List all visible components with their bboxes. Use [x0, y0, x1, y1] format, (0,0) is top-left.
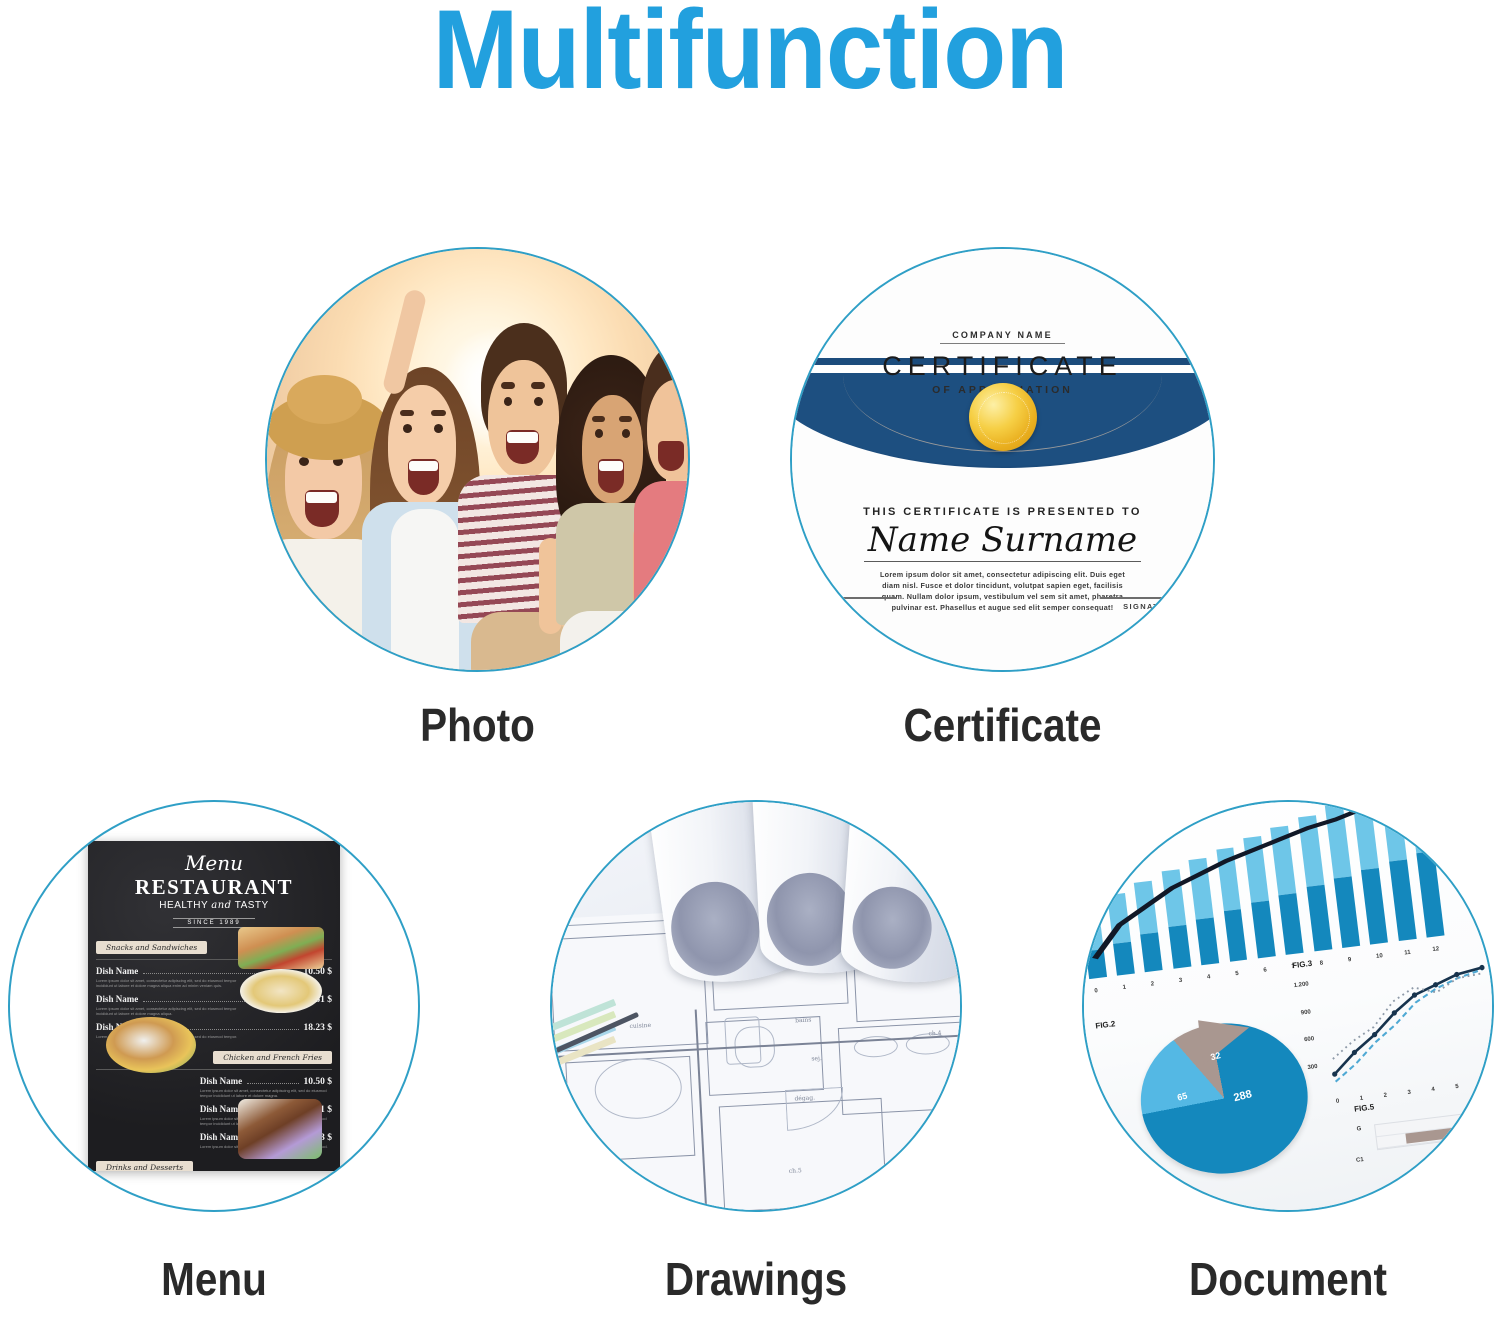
menu-script-title: Menu — [88, 851, 340, 875]
eye-left — [403, 424, 412, 433]
certificate-document: COMPANY NAME CERTIFICATE OF APPRECIATION… — [792, 249, 1213, 670]
drinks-dessert-photo — [238, 1099, 322, 1159]
cert-signature-block: SIGNATURE — [1052, 597, 1179, 611]
plan-label: dégag. — [794, 1095, 815, 1103]
bar — [1440, 1203, 1449, 1212]
x-tick: 2 — [1383, 1093, 1387, 1099]
x-tick: 4 — [1431, 1087, 1435, 1093]
tile-menu-circle: Menu RESTAURANT HEALTHY and TASTY SINCE … — [8, 800, 420, 1212]
eye-right — [434, 424, 443, 433]
dimension-line — [555, 1210, 962, 1212]
caption-drawings: Drawings — [575, 1256, 938, 1302]
caption-document: Document — [1107, 1256, 1470, 1302]
menu-header: Menu RESTAURANT HEALTHY and TASTY SINCE … — [88, 841, 340, 929]
x-tick: 1 — [1122, 984, 1126, 990]
teeth — [599, 461, 623, 471]
brow-left — [501, 382, 515, 389]
group-photo — [267, 249, 688, 670]
x-tick: 0 — [1335, 1099, 1339, 1105]
roll-opening — [850, 884, 934, 971]
eye-left — [595, 429, 603, 437]
date-line — [826, 597, 897, 599]
tile-drawings-circle: cuisine bains ch.4 sej. dégag. ch.5 — [550, 800, 962, 1212]
report-sheet: 0 1 2 3 4 5 6 7 8 9 10 11 12 20 40 60 — [1082, 800, 1494, 1212]
x-tick: 2 — [1150, 981, 1154, 987]
cert-recipient-name: Name Surname — [792, 520, 1213, 560]
teeth — [409, 461, 438, 472]
signature-line — [1100, 597, 1179, 599]
trend-line — [1082, 800, 1483, 980]
tile-document-circle: 0 1 2 3 4 5 6 7 8 9 10 11 12 20 40 60 — [1082, 800, 1494, 1212]
menu-tagline-2: TASTY — [235, 900, 269, 911]
dish-name: Dish Name — [200, 1132, 242, 1142]
x-tick: 9 — [1347, 957, 1351, 963]
fig-label-2: FIG.2 — [1094, 1018, 1115, 1029]
restaurant-menu: Menu RESTAURANT HEALTHY and TASTY SINCE … — [88, 841, 340, 1171]
x-tick: 0 — [1094, 988, 1098, 994]
menu-section: Drinks and Desserts Dish Name 10.50 $ Lo… — [96, 1157, 332, 1171]
fig-label-4: FIG.4 — [1168, 1187, 1189, 1198]
x-tick: 11 — [1404, 949, 1411, 956]
pie-value-65: 65 — [1175, 1090, 1187, 1102]
cert-heading: CERTIFICATE — [792, 351, 1213, 382]
cert-presented-to: THIS CERTIFICATE IS PRESENTED TO — [792, 506, 1213, 518]
roll-opening — [665, 877, 765, 982]
dish-name: Dish Name — [96, 994, 138, 1004]
chicken-fries-photo — [106, 1017, 196, 1073]
plan-label: ch.4 — [928, 1029, 941, 1037]
x-tick: 3 — [1407, 1090, 1411, 1096]
business-report-charts: 0 1 2 3 4 5 6 7 8 9 10 11 12 20 40 60 — [1084, 802, 1492, 1210]
bottom-bar-chart — [1311, 1164, 1494, 1212]
person-5 — [637, 333, 690, 670]
x-tick: 5 — [1455, 1084, 1459, 1090]
table-row-label: C1 — [1355, 1157, 1363, 1164]
hat-crown — [287, 375, 361, 423]
fig-label-5: FIG.5 — [1353, 1102, 1374, 1113]
cert-signature-label: SIGNATURE — [1052, 602, 1179, 611]
y-tick: 900 — [1300, 1009, 1311, 1016]
x-tick: 8 — [1319, 960, 1323, 966]
dish-price: 18.23 $ — [304, 1023, 333, 1033]
menu-tagline: HEALTHY and TASTY — [88, 900, 340, 911]
menu-tagline-1: HEALTHY — [159, 900, 208, 911]
sandwich-photo — [238, 927, 324, 969]
x-tick: 3 — [1178, 977, 1182, 983]
brow-left — [592, 416, 605, 422]
dish-price: 10.50 $ — [304, 1077, 333, 1087]
caption-photo: Photo — [291, 702, 665, 748]
dish-description: Lorem ipsum dolor sit amet, consectetur … — [200, 1088, 332, 1098]
menu-item: Dish Name 10.50 $ — [200, 1076, 332, 1087]
x-tick: 10 — [1376, 953, 1383, 960]
table-row-label: G — [1356, 1126, 1361, 1133]
pie-value-32: 32 — [1209, 1050, 1221, 1062]
tile-certificate-circle: COMPANY NAME CERTIFICATE OF APPRECIATION… — [790, 247, 1215, 672]
eye-left — [299, 457, 309, 466]
y-tick: 300 — [1307, 1064, 1318, 1071]
x-tick: 1 — [1359, 1096, 1363, 1102]
fig-label-3: FIG.3 — [1291, 959, 1312, 970]
x-tick: 4 — [1207, 974, 1211, 980]
plan-label: bains — [795, 1017, 812, 1025]
plan-label: ch.5 — [788, 1167, 801, 1175]
plan-label: sej. — [811, 1055, 822, 1063]
plan-bathtub — [723, 1016, 761, 1065]
dish-name: Dish Name — [96, 966, 138, 976]
data-table-fig5 — [1374, 1108, 1494, 1150]
table-cell-value: 513 — [1456, 1144, 1467, 1151]
x-tick: 5 — [1235, 971, 1239, 977]
menu-section-title: Drinks and Desserts — [96, 1161, 193, 1171]
cert-date-label: DATE — [826, 602, 953, 611]
plan-label: cuisine — [629, 1022, 651, 1030]
dish-name: Dish Name — [200, 1076, 242, 1086]
torso — [634, 481, 690, 670]
y-tick: 1.200 — [1293, 982, 1309, 990]
dish-name: Dish Name — [200, 1104, 242, 1114]
eye-right — [534, 397, 543, 406]
teeth — [306, 492, 337, 503]
blueprint-roll — [839, 800, 962, 986]
gold-seal-icon — [969, 383, 1037, 451]
menu-tagline-and: and — [211, 900, 231, 911]
poster-root: Multifunction — [0, 0, 1500, 1322]
architectural-blueprints: cuisine bains ch.4 sej. dégag. ch.5 — [552, 802, 960, 1210]
teeth — [507, 432, 537, 443]
bar — [1380, 1203, 1390, 1212]
cert-date-block: DATE — [826, 597, 953, 611]
brow-right — [431, 410, 445, 416]
menu-section-title: Chicken and French Fries — [213, 1051, 332, 1064]
tile-photo-circle — [265, 247, 690, 672]
shirt-inner — [391, 509, 459, 672]
bar — [1408, 1185, 1420, 1212]
leader-dots — [247, 1083, 298, 1084]
menu-title: RESTAURANT — [88, 875, 340, 900]
line-series — [1311, 954, 1494, 1090]
cert-company-name: COMPANY NAME — [940, 330, 1065, 344]
brow-left — [400, 410, 414, 416]
pie-chart-fig4: 288 65 32 — [1132, 1014, 1316, 1183]
y-tick: 600 — [1304, 1036, 1315, 1043]
cert-footer: DATE SIGNATURE — [826, 597, 1180, 611]
page-title: Multifunction — [60, 0, 1440, 106]
x-tick: 6 — [1263, 967, 1267, 973]
line-chart-fig3: 1.200 900 600 300 0 1 2 3 4 5 6 — [1311, 954, 1494, 1090]
mouth — [658, 441, 684, 471]
caption-certificate: Certificate — [816, 702, 1190, 748]
fries-plate-photo — [240, 969, 322, 1013]
brow-right — [531, 382, 545, 389]
table-col-header: 600 — [1485, 1087, 1494, 1094]
brow-right — [619, 416, 632, 422]
cert-name-rule — [864, 561, 1142, 562]
menu-section-title: Snacks and Sandwiches — [96, 941, 207, 954]
eye-right — [622, 429, 630, 437]
x-tick: 6 — [1479, 1081, 1483, 1087]
x-tick: 12 — [1432, 946, 1439, 953]
caption-menu: Menu — [33, 1256, 396, 1302]
